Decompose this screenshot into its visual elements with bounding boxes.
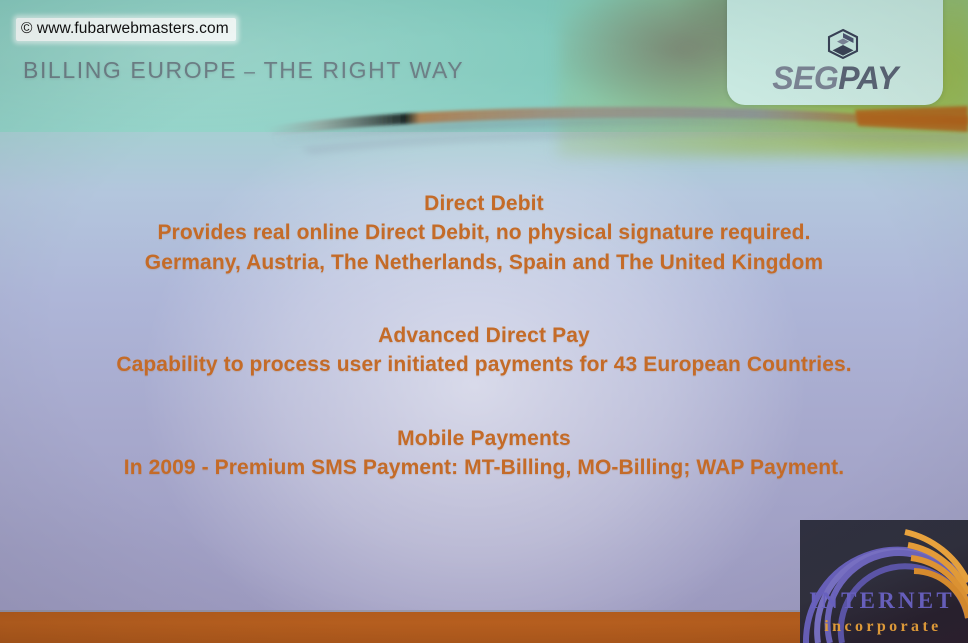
logo-line-incorporate: incorporate bbox=[800, 618, 966, 636]
slide-section-advanced-direct-pay: Advanced Direct Pay Capability to proces… bbox=[50, 322, 918, 380]
section-spacer bbox=[50, 277, 918, 322]
segpay-wordmark: SEGPAY bbox=[727, 62, 943, 94]
page-title-primary: BILLING EUROPE bbox=[23, 57, 237, 83]
section-line: Germany, Austria, The Netherlands, Spain… bbox=[50, 248, 918, 278]
page-title: BILLING EUROPE – THE RIGHT WAY bbox=[23, 57, 464, 84]
section-line: In 2009 - Premium SMS Payment: MT-Billin… bbox=[50, 453, 918, 483]
page-title-dash: – bbox=[237, 61, 263, 83]
section-heading: Direct Debit bbox=[50, 190, 918, 218]
segpay-logo-panel: SEGPAY bbox=[727, 0, 943, 105]
section-line: Provides real online Direct Debit, no ph… bbox=[50, 218, 918, 248]
section-spacer bbox=[50, 380, 918, 425]
segpay-word-seg: SEG bbox=[772, 60, 838, 96]
hexagon-cube-icon bbox=[823, 28, 863, 60]
logo-line-internet: INTERNET bbox=[800, 588, 964, 614]
slide-section-mobile-payments: Mobile Payments In 2009 - Premium SMS Pa… bbox=[50, 425, 918, 483]
slide-section-direct-debit: Direct Debit Provides real online Direct… bbox=[50, 190, 918, 277]
section-line: Capability to process user initiated pay… bbox=[50, 350, 918, 380]
section-heading: Advanced Direct Pay bbox=[50, 322, 918, 350]
section-heading: Mobile Payments bbox=[50, 425, 918, 453]
page-title-secondary: THE RIGHT WAY bbox=[264, 57, 465, 83]
projected-slide-photo: SEGPAY BILLING EUROPE – THE RIGHT WAY © … bbox=[0, 0, 968, 643]
site-watermark: © www.fubarwebmasters.com bbox=[16, 18, 236, 41]
segpay-word-pay: PAY bbox=[838, 60, 898, 96]
internet-incorporate-logo: INTERNET incorporate bbox=[800, 520, 968, 643]
slide-body: Direct Debit Provides real online Direct… bbox=[50, 190, 918, 482]
